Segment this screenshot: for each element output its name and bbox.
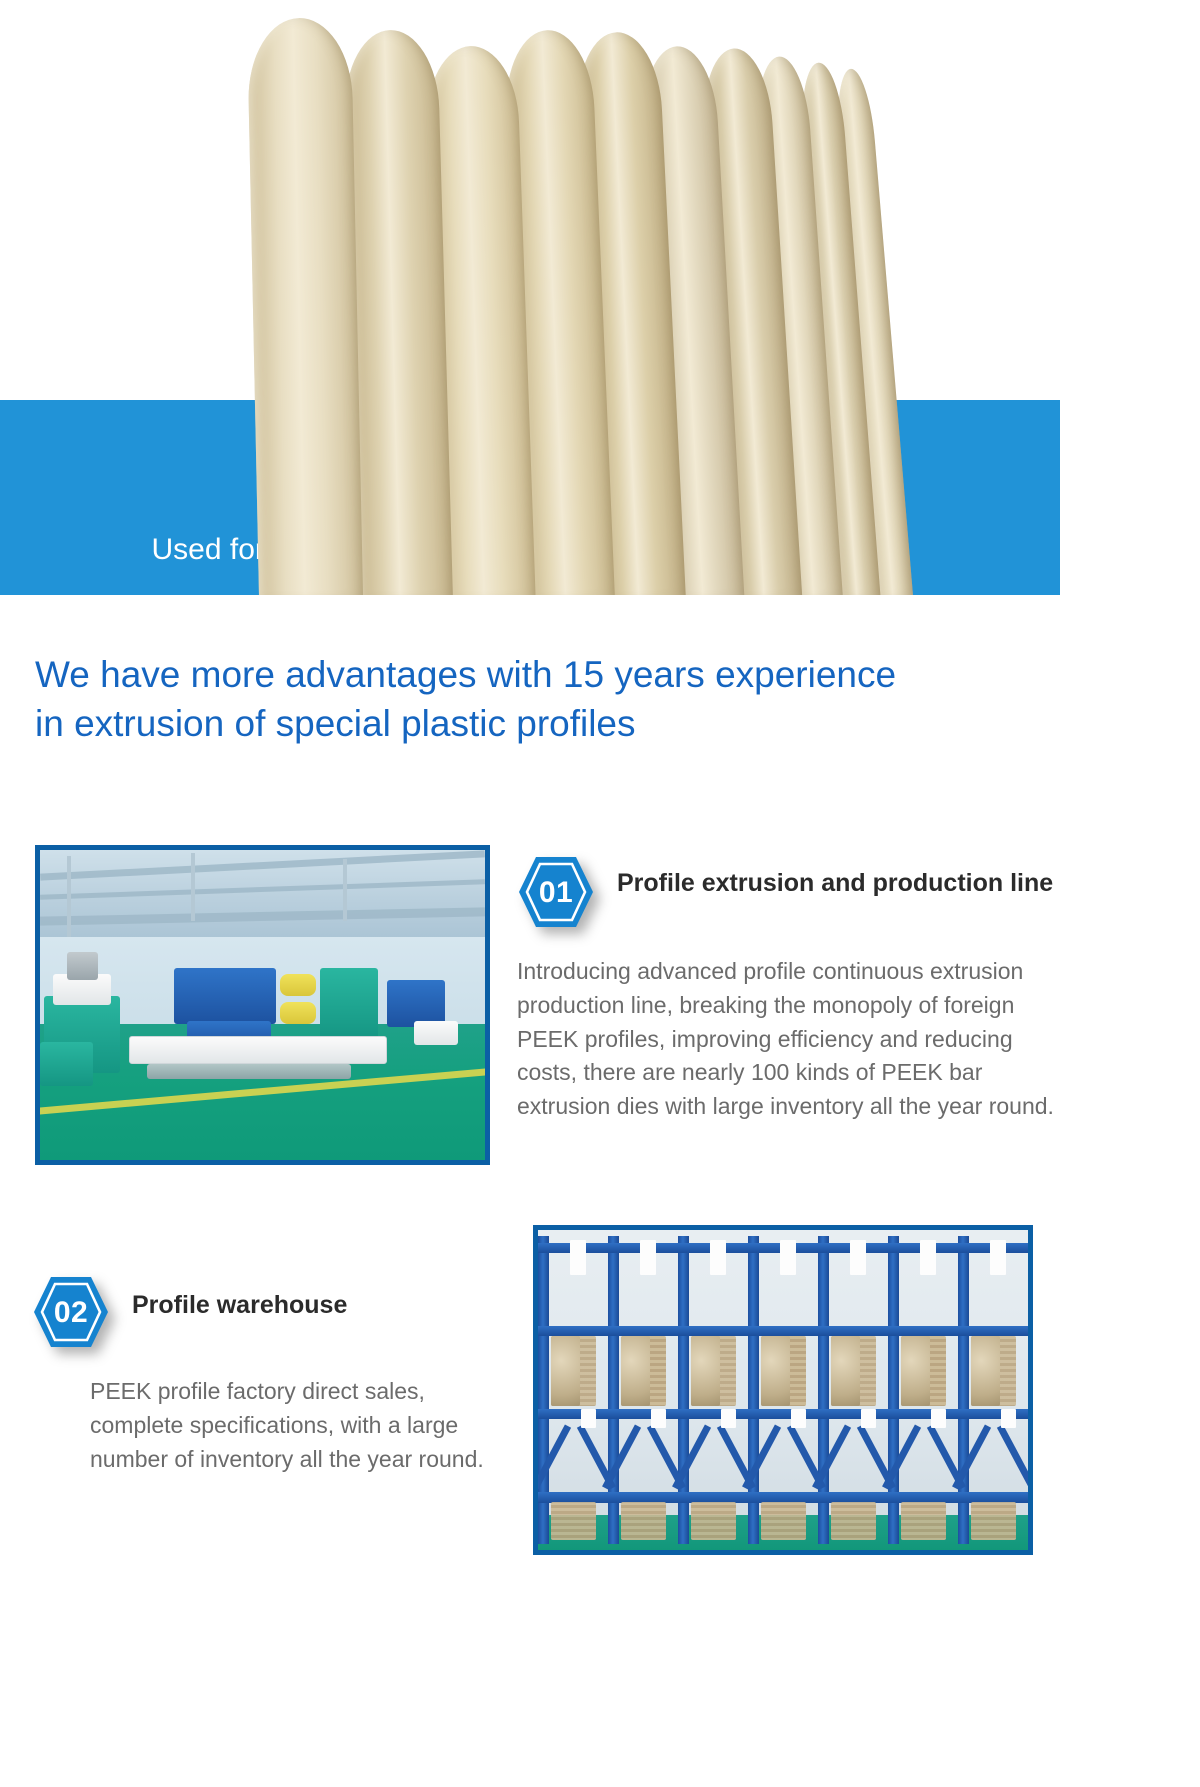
headline-line-2: in extrusion of special plastic profiles	[35, 699, 1045, 748]
feature-block-02-header: 02 Profile warehouse	[32, 1275, 512, 1349]
feature-block-02-body: PEEK profile factory direct sales, compl…	[32, 1375, 512, 1476]
feature-block-01-header: 01 Profile extrusion and production line	[517, 855, 1062, 929]
step-number-badge-02: 02	[32, 1275, 110, 1349]
feature-block-02: 02 Profile warehouse PEEK profile factor…	[0, 1225, 1060, 1555]
feature-block-01-body: Introducing advanced profile continuous …	[517, 955, 1062, 1124]
feature-block-01-text: 01 Profile extrusion and production line…	[517, 855, 1062, 1124]
feature-block-01: 01 Profile extrusion and production line…	[0, 845, 1060, 1195]
step-number-label-01: 01	[517, 855, 595, 929]
product-detail-page: PEEK rods Used for processing PEEK parts…	[0, 0, 1200, 1787]
feature-block-02-title: Profile warehouse	[132, 1275, 347, 1321]
step-number-badge-01: 01	[517, 855, 595, 929]
extrusion-production-line-photo	[35, 845, 490, 1165]
hero-section: PEEK rods Used for processing PEEK parts…	[0, 0, 1060, 595]
section-headline: We have more advantages with 15 years ex…	[35, 650, 1045, 748]
profile-warehouse-photo	[533, 1225, 1033, 1555]
headline-line-1: We have more advantages with 15 years ex…	[35, 650, 1045, 699]
feature-block-01-title: Profile extrusion and production line	[617, 855, 1053, 899]
feature-block-02-text: 02 Profile warehouse PEEK profile factor…	[32, 1275, 512, 1476]
step-number-label-02: 02	[32, 1275, 110, 1349]
